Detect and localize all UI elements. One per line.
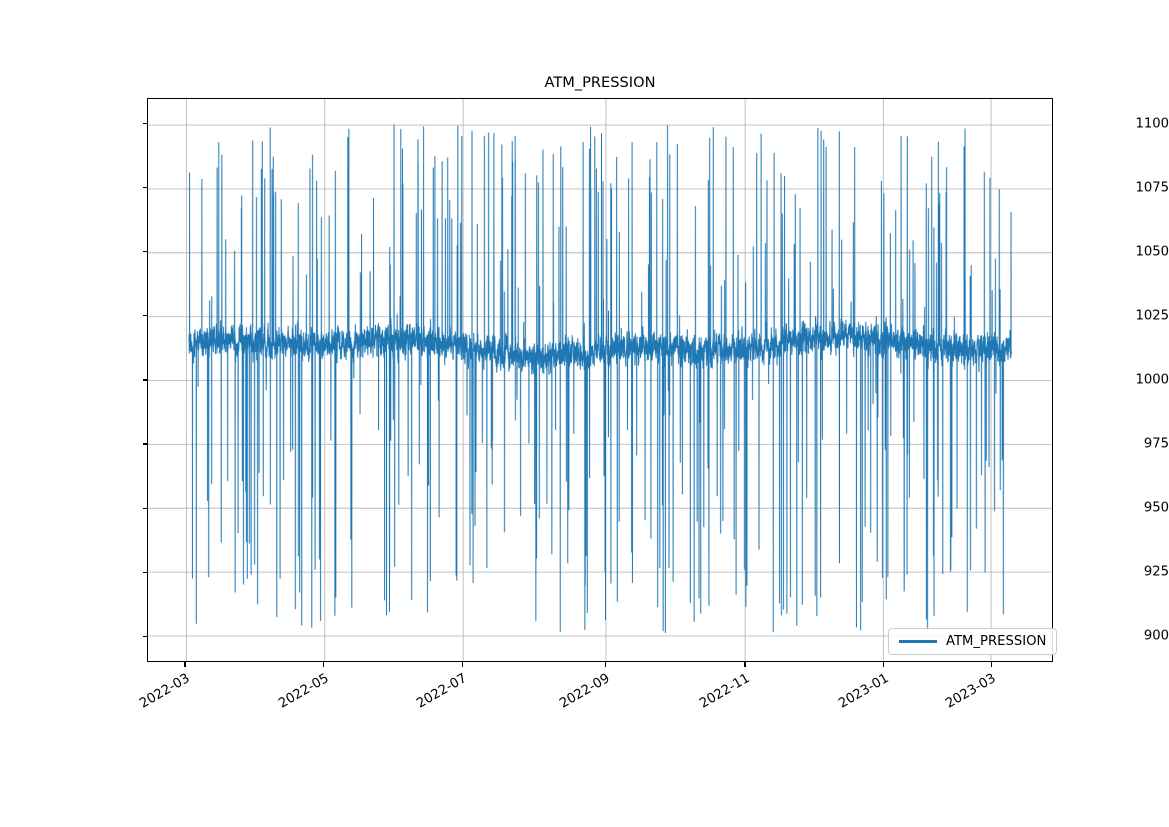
- x-tick-mark: [184, 662, 185, 667]
- x-tick-mark: [883, 662, 884, 667]
- x-tick-mark: [462, 662, 463, 667]
- plot-area: [147, 98, 1053, 662]
- x-tick-mark: [744, 662, 745, 667]
- x-tick-mark: [323, 662, 324, 667]
- legend-line-swatch: [899, 640, 937, 642]
- matplotlib-figure: ATM_PRESSION 900925950975100010251050107…: [0, 0, 1169, 827]
- legend-label-atm-pression: ATM_PRESSION: [946, 634, 1046, 649]
- chart-legend[interactable]: ATM_PRESSION: [888, 628, 1057, 655]
- series-atm-pression: [148, 99, 1052, 661]
- x-tick-label: 2022-05: [261, 671, 331, 720]
- x-tick-label: 2023-01: [821, 671, 891, 720]
- x-tick-label: 2022-07: [400, 671, 470, 720]
- chart-title: ATM_PRESSION: [147, 74, 1053, 91]
- x-tick-label: 2023-03: [929, 671, 999, 720]
- x-tick-mark: [605, 662, 606, 667]
- x-tick-label: 2022-03: [123, 671, 193, 720]
- x-tick-mark: [991, 662, 992, 667]
- x-tick-label: 2022-11: [683, 671, 753, 720]
- x-tick-label: 2022-09: [543, 671, 613, 720]
